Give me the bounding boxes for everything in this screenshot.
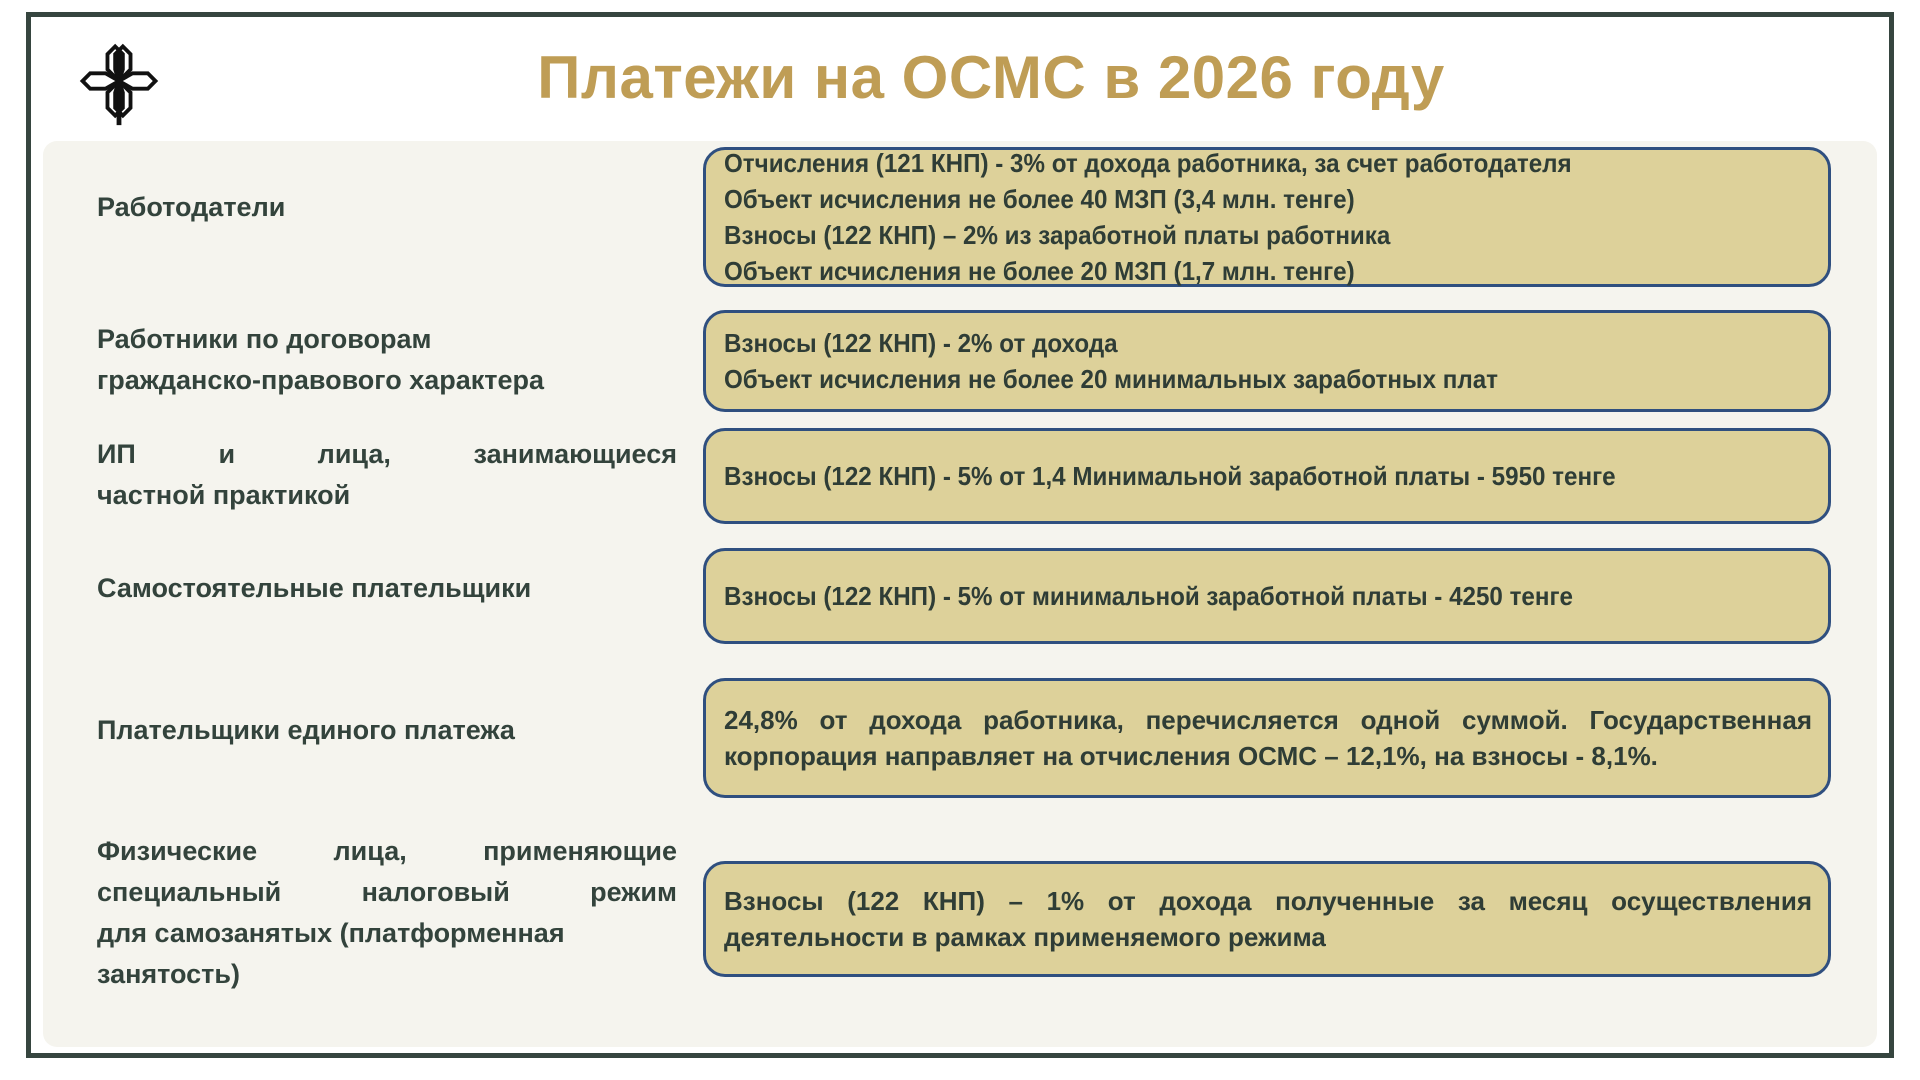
slide-frame: Платежи на ОСМС в 2026 году Работодатели… — [26, 12, 1894, 1058]
row-value-self-payers: Взносы (122 КНП) - 5% от минимальной зар… — [703, 548, 1831, 644]
slide-header: Платежи на ОСМС в 2026 году — [31, 17, 1889, 139]
page-title: Платежи на ОСМС в 2026 году — [331, 43, 1651, 112]
row-value-individual-entrepreneurs: Взносы (122 КНП) - 5% от 1,4 Минимальной… — [703, 428, 1831, 524]
row-value-employers: Отчисления (121 КНП) - 3% от дохода рабо… — [703, 147, 1831, 287]
row-label-self-payers: Самостоятельные плательщики — [97, 568, 677, 609]
row-label-civil-contract-workers: Работники по договорам гражданско-правов… — [97, 319, 677, 401]
row-label-single-payment-payers: Плательщики единого платежа — [97, 710, 677, 751]
row-label-employers: Работодатели — [97, 187, 677, 228]
payments-table-panel: Работодатели Отчисления (121 КНП) - 3% о… — [43, 141, 1877, 1047]
row-label-self-employed-individuals: Физические лица, применяющие специальный… — [97, 831, 677, 995]
kazakh-ornament-icon — [71, 33, 167, 129]
row-value-single-payment-payers: 24,8% от дохода работника, перечисляется… — [703, 678, 1831, 798]
row-value-self-employed-individuals: Взносы (122 КНП) – 1% от дохода полученн… — [703, 861, 1831, 977]
row-value-civil-contract-workers: Взносы (122 КНП) - 2% от дохода Объект и… — [703, 310, 1831, 412]
row-label-individual-entrepreneurs: ИП и лица, занимающиеся частной практико… — [97, 434, 677, 516]
